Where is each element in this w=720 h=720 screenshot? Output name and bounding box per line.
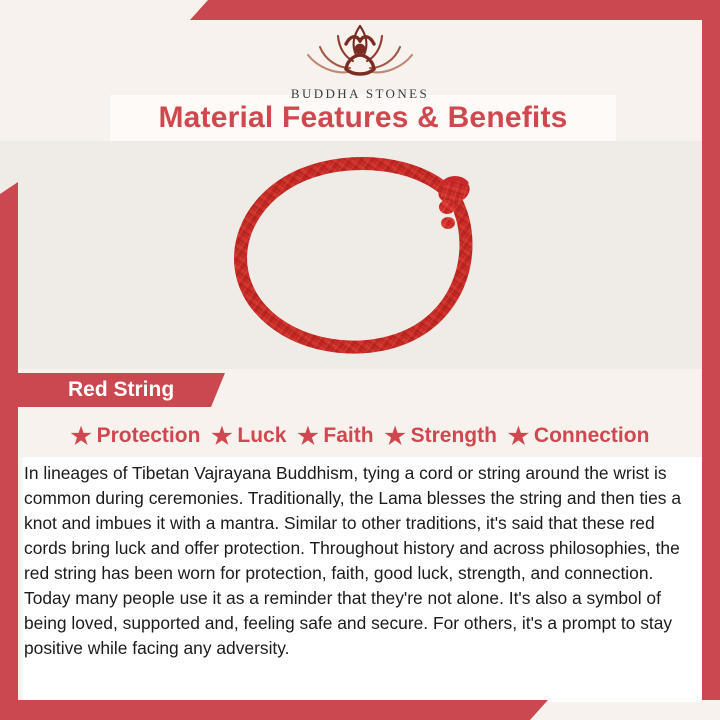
feature-item-strength: Strength: [385, 424, 497, 448]
feature-label: Protection: [97, 424, 201, 448]
decor-left-bar: [0, 182, 18, 720]
product-name-label: Red String: [22, 378, 174, 402]
star-icon: [508, 426, 529, 447]
brand-logo: BUDDHA STONES: [0, 22, 720, 102]
ribbon-tail: [0, 373, 22, 407]
feature-label: Connection: [534, 424, 650, 448]
description-block: In lineages of Tibetan Vajrayana Buddhis…: [22, 457, 702, 702]
brand-name: BUDDHA STONES: [0, 86, 720, 102]
feature-list: Protection Luck Faith Strength Connectio…: [18, 416, 702, 456]
feature-label: Strength: [411, 424, 497, 448]
lotus-meditation-icon: [290, 22, 430, 84]
feature-item-luck: Luck: [211, 424, 286, 448]
description-text: In lineages of Tibetan Vajrayana Buddhis…: [22, 461, 702, 661]
star-icon: [297, 426, 318, 447]
product-photo: [0, 141, 720, 369]
feature-item-protection: Protection: [71, 424, 201, 448]
decor-top-bar: [0, 0, 720, 20]
red-string-bracelet-image: [228, 149, 496, 361]
feature-label: Luck: [237, 424, 286, 448]
product-name-ribbon: Red String: [22, 373, 225, 407]
decor-right-bar: [702, 0, 720, 700]
star-icon: [211, 426, 232, 447]
feature-label: Faith: [323, 424, 373, 448]
decor-bottom-bar: [0, 700, 720, 720]
star-icon: [385, 426, 406, 447]
page-title: Material Features & Benefits: [158, 101, 567, 135]
feature-item-connection: Connection: [508, 424, 650, 448]
feature-item-faith: Faith: [297, 424, 373, 448]
infographic-page: BUDDHA STONES Material Features & Benefi…: [0, 0, 720, 720]
star-icon: [71, 426, 92, 447]
